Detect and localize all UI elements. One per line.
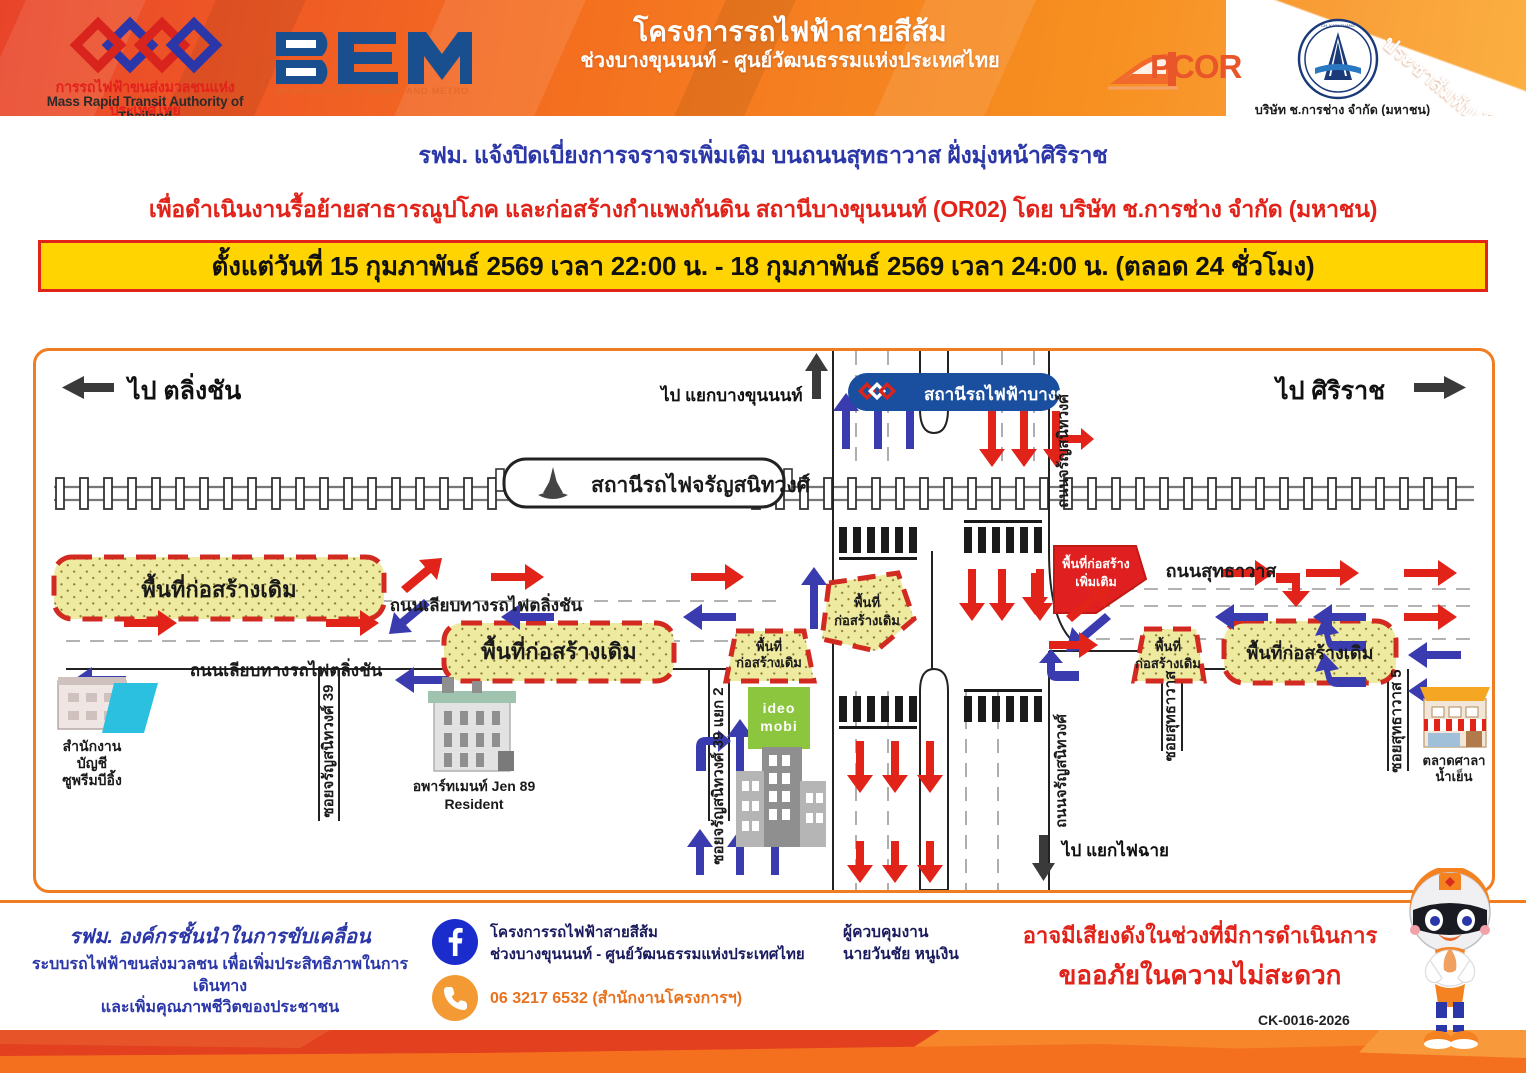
mrta-mascot (1390, 868, 1510, 1058)
fb-line-2: ช่วงบางขุนนนท์ - ศูนย์วัฒนธรรมแห่งประเทศ… (490, 944, 805, 966)
map-svg: สถานีรถไฟจรัญสนิทวงศ์ สถานีรถไฟฟ้าบางขุน… (36, 351, 1492, 890)
svg-text:ถนนเลียบทางรถไฟตลิ่งชัน: ถนนเลียบทางรถไฟตลิ่งชัน (390, 593, 583, 615)
pcor-label: PCOR (1150, 48, 1241, 86)
direction-down-label: ไป แยกไฟฉาย (1060, 840, 1169, 860)
svg-text:ถนนจรัญสนิทวงศ์: ถนนจรัญสนิทวงศ์ (1054, 394, 1072, 508)
svg-text:ถนนจรัญสนิทวงศ์: ถนนจรัญสนิทวงศ์ (1052, 714, 1070, 828)
svg-text:ก่อสร้างเดิม: ก่อสร้างเดิม (736, 655, 802, 670)
svg-text:พื้นที่: พื้นที่ (1155, 636, 1181, 654)
svg-text:พื้นที่: พื้นที่ (756, 636, 782, 654)
apology-line-1: อาจมีเสียงดังในช่วงที่มีการดำเนินการ (1000, 918, 1400, 953)
project-title: โครงการรถไฟฟ้าสายสีส้ม ช่วงบางขุนนนท์ - … (470, 16, 1110, 74)
svg-text:CH. KARNCHANG: CH. KARNCHANG (1321, 23, 1355, 28)
date-range-box: ตั้งแต่วันที่ 15 กุมภาพันธ์ 2569 เวลา 22… (38, 240, 1488, 292)
svg-text:เพิ่มเติม: เพิ่มเติม (1075, 573, 1116, 589)
bem-subtext: BANGKOK EXPRESSWAY AND METRO (272, 86, 472, 97)
svg-text:พื้นที่: พื้นที่ (854, 592, 880, 610)
notice-line-2: เพื่อดำเนินงานรื้อย้ายสาธารณูปโภค และก่อ… (0, 192, 1526, 228)
direction-up-label: ไป แยกบางขุนนนท์ (659, 385, 803, 406)
svg-text:ซูพรีมบีอิ้ง: ซูพรีมบีอิ้ง (62, 769, 122, 789)
mrta-logo: การรถไฟฟ้าขนส่งมวลชนแห่งประเทศไทย Mass R… (20, 14, 270, 110)
direction-right-label: ไป ศิริราช (1273, 375, 1385, 405)
svg-text:ซอยสุทธาวาส: ซอยสุทธาวาส (1162, 670, 1180, 761)
project-title-line2: ช่วงบางขุนนนท์ - ศูนย์วัฒนธรรมแห่งประเทศ… (470, 48, 1110, 74)
svg-text:น้ำเย็น: น้ำเย็น (1435, 766, 1472, 784)
supervisor-label: ผู้ควบคุมงาน (843, 922, 959, 944)
poi-apartment-jen89: อพาร์ทเมนท์ Jen 89 Resident (413, 677, 536, 812)
slogan-line-1: รฟม. องค์กรชั้นนำในการขับเคลื่อน (20, 920, 420, 952)
ck-company-logo-icon: CH. KARNCHANG (1297, 18, 1379, 100)
document-code: CK-0016-2026 (1258, 1012, 1350, 1028)
ck-caption: บริษัท ช.การช่าง จำกัด (มหาชน) (1245, 100, 1440, 116)
svg-text:ก่อสร้างเดิม: ก่อสร้างเดิม (1135, 656, 1201, 671)
notice-block: รฟม. แจ้งปิดเบี่ยงการจราจรเพิ่มเติม บนถน… (0, 120, 1526, 228)
railway-station-label: สถานีรถไฟจรัญสนิทวงศ์ (591, 472, 811, 498)
svg-text:บัญชี: บัญชี (77, 755, 108, 772)
railway-station-sign: สถานีรถไฟจรัญสนิทวงศ์ (496, 459, 811, 507)
facebook-page-name: โครงการรถไฟฟ้าสายสีส้ม ช่วงบางขุนนนท์ - … (490, 922, 805, 966)
svg-text:พื้นที่ก่อสร้างเดิม: พื้นที่ก่อสร้างเดิม (1246, 639, 1373, 663)
svg-text:พื้นที่ก่อสร้างเดิม: พื้นที่ก่อสร้างเดิม (141, 573, 296, 602)
page-footer: รฟม. องค์กรชั้นนำในการขับเคลื่อน ระบบรถไ… (0, 896, 1526, 1073)
date-range-text: ตั้งแต่วันที่ 15 กุมภาพันธ์ 2569 เวลา 22… (212, 246, 1315, 287)
road-medians (920, 351, 948, 890)
svg-text:ซอยจรัญสนิทวงศ์ 39: ซอยจรัญสนิทวงศ์ 39 (319, 684, 337, 817)
slogan-line-2: ระบบรถไฟฟ้าขนส่งมวลชน เพื่อเพิ่มประสิทธิ… (20, 954, 420, 997)
contact-phone: 06 3217 6532 (สำนักงานโครงการฯ) (490, 986, 742, 1011)
poi-ideo-mobi: ideo mobi (736, 687, 826, 847)
fb-line-1: โครงการรถไฟฟ้าสายสีส้ม (490, 922, 805, 944)
traffic-diversion-map: สถานีรถไฟจรัญสนิทวงศ์ สถานีรถไฟฟ้าบางขุน… (33, 348, 1495, 893)
svg-text:พื้นที่ก่อสร้าง: พื้นที่ก่อสร้าง (1062, 554, 1130, 571)
project-title-line1: โครงการรถไฟฟ้าสายสีส้ม (470, 16, 1110, 48)
svg-text:Resident: Resident (444, 796, 503, 812)
apology-line-2: ขออภัยในความไม่สะดวก (1000, 955, 1400, 996)
mrta-diamond-icon (68, 16, 228, 74)
supervisor-name: นายวันชัย หนูเงิน (843, 944, 959, 966)
notice-line-1: รฟม. แจ้งปิดเบี่ยงการจราจรเพิ่มเติม บนถน… (0, 138, 1526, 174)
apology-block: อาจมีเสียงดังในช่วงที่มีการดำเนินการ ขออ… (1000, 918, 1400, 996)
svg-text:พื้นที่ก่อสร้างเดิม: พื้นที่ก่อสร้างเดิม (481, 635, 636, 664)
slogan-line-3: และเพิ่มคุณภาพชีวิตของประชาชน (20, 997, 420, 1019)
mrta-name-en: Mass Rapid Transit Authority of Thailand (20, 94, 270, 116)
svg-text:ตลาดศาลา: ตลาดศาลา (1423, 753, 1486, 768)
svg-text:ถนนเลียบทางรถไฟตลิ่งชัน: ถนนเลียบทางรถไฟตลิ่งชัน (190, 658, 383, 680)
svg-text:ซอยจรัญสนิทวงศ์ 39 แยก 2: ซอยจรัญสนิทวงศ์ 39 แยก 2 (709, 687, 727, 864)
svg-text:ซอยสุทธาวาส 5: ซอยสุทธาวาส 5 (1388, 669, 1406, 772)
svg-text:mobi: mobi (760, 718, 797, 734)
svg-text:ก่อสร้างเดิม: ก่อสร้างเดิม (834, 613, 900, 628)
phone-icon[interactable] (432, 975, 478, 1021)
poi-office-suprime: สำนักงาน บัญชี ซูพรีมบีอิ้ง (58, 677, 158, 789)
pr-ribbon: ประชาสัมพันธ์ (1378, 0, 1526, 94)
svg-text:สำนักงาน: สำนักงาน (63, 738, 122, 754)
metro-station-label: สถานีรถไฟฟ้าบางขุนนนท์ (924, 384, 1114, 405)
mrta-slogan: รฟม. องค์กรชั้นนำในการขับเคลื่อน ระบบรถไ… (20, 920, 420, 1019)
svg-text:อพาร์ทเมนท์ Jen 89: อพาร์ทเมนท์ Jen 89 (413, 778, 536, 794)
poi-market-sala-namyen: ตลาดศาลา น้ำเย็น (1420, 687, 1490, 784)
direction-left-label: ไป ตลิ่งชัน (125, 373, 241, 405)
supervisor-block: ผู้ควบคุมงาน นายวันชัย หนูเงิน (843, 922, 959, 967)
svg-text:ถนนสุทธาวาส: ถนนสุทธาวาส (1166, 561, 1278, 583)
svg-text:ideo: ideo (763, 700, 796, 716)
facebook-icon[interactable] (432, 919, 478, 965)
metro-station-sign: สถานีรถไฟฟ้าบางขุนนนท์ (848, 373, 1114, 411)
footer-divider (0, 900, 1526, 903)
page-header: การรถไฟฟ้าขนส่งมวลชนแห่งประเทศไทย Mass R… (0, 0, 1526, 116)
footer-decoration (0, 1030, 1526, 1073)
